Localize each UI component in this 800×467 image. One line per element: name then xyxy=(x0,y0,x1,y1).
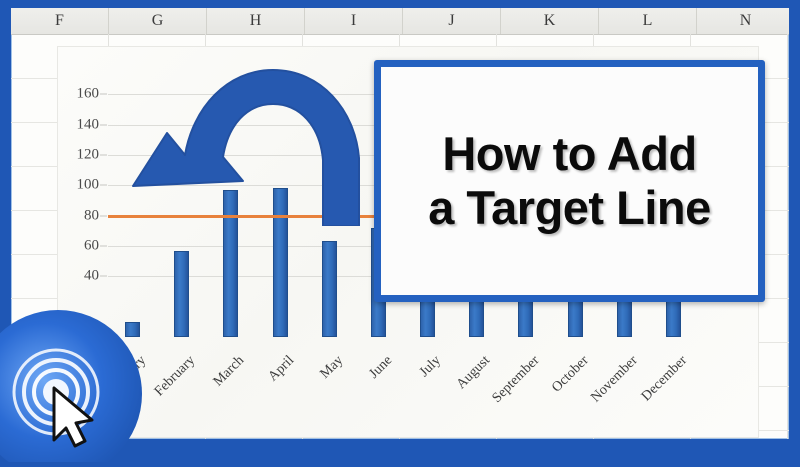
x-axis-tick-label: June xyxy=(366,353,395,382)
column-header-J[interactable]: J xyxy=(403,8,501,34)
x-axis-tick-label: July xyxy=(417,353,445,381)
sheet-grid-vertical xyxy=(787,34,788,439)
y-axis-tick-label: 160 xyxy=(77,86,100,103)
y-axis-tick-label: 40 xyxy=(84,268,99,285)
y-axis-tick xyxy=(100,94,107,95)
column-header-N[interactable]: N xyxy=(697,8,789,34)
x-axis-tick-label: November xyxy=(588,353,641,406)
x-axis-tick-label: September xyxy=(490,353,544,407)
y-axis-tick-label: 140 xyxy=(77,116,100,133)
y-axis-tick-label: 100 xyxy=(77,177,100,194)
column-header-L[interactable]: L xyxy=(599,8,697,34)
column-header-I[interactable]: I xyxy=(305,8,403,34)
bar-may xyxy=(322,241,337,337)
bar-february xyxy=(174,251,189,338)
x-axis-tick-label: October xyxy=(549,353,592,396)
column-header-row: FGHIJKLN xyxy=(11,8,789,35)
y-axis-tick-label: 80 xyxy=(84,207,99,224)
blue-frame-border: FGHIJKLN 160140120100806040 JanuaryFebru… xyxy=(0,0,800,448)
x-axis-tick-label: December xyxy=(639,353,691,405)
y-axis-tick xyxy=(100,245,107,246)
y-axis-tick xyxy=(100,124,107,125)
x-axis-tick-label: May xyxy=(317,353,346,382)
x-axis-tick-label: February xyxy=(152,353,199,400)
x-axis-tick-label: August xyxy=(454,353,494,393)
concentric-rings-cursor-logo[interactable] xyxy=(0,310,142,462)
y-axis-tick xyxy=(100,215,107,216)
column-header-K[interactable]: K xyxy=(501,8,599,34)
y-axis-tick xyxy=(100,185,107,186)
column-header-F[interactable]: F xyxy=(11,8,109,34)
title-line-2: a Target Line xyxy=(428,181,711,235)
x-axis-tick-label: March xyxy=(211,353,248,390)
y-axis-tick-label: 60 xyxy=(84,237,99,254)
y-axis-tick xyxy=(100,276,107,277)
column-header-H[interactable]: H xyxy=(207,8,305,34)
title-card: How to Add a Target Line xyxy=(374,60,765,302)
column-header-G[interactable]: G xyxy=(109,8,207,34)
title-line-1: How to Add xyxy=(442,127,696,181)
y-axis-tick xyxy=(100,154,107,155)
y-axis-tick-label: 120 xyxy=(77,146,100,163)
x-axis-tick-label: April xyxy=(265,353,297,385)
